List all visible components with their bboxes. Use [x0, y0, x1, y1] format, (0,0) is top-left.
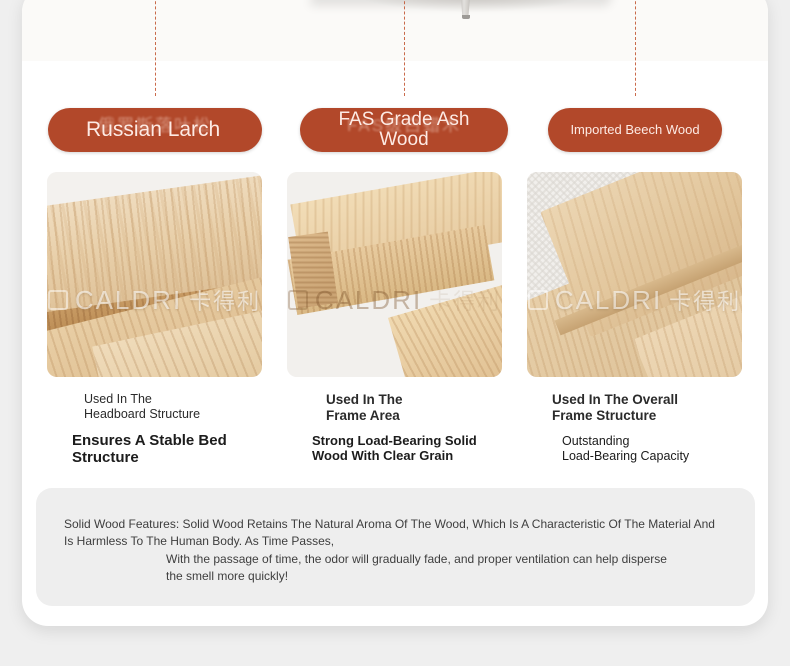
- badge-imported-beech-wood[interactable]: Imported Beech Wood: [548, 108, 722, 152]
- badge-fas-grade-ash-wood[interactable]: FAS级白蜡木 FAS Grade Ash Wood: [300, 108, 508, 152]
- wood-photo-2-art: [287, 172, 502, 377]
- connector-line-2: [404, 0, 405, 96]
- connector-line-3: [635, 0, 636, 96]
- badge-label-3: Imported Beech Wood: [570, 123, 699, 137]
- bed-furniture-photo: [22, 0, 768, 61]
- wood-photo-ash-wood[interactable]: CALDRI 卡得利: [287, 172, 502, 377]
- caption-column-3: Used In The Overall Frame Structure Outs…: [552, 392, 790, 463]
- badge-label-1: Russian Larch: [62, 119, 248, 141]
- caption-usage-3: Used In The Overall Frame Structure: [552, 392, 790, 425]
- caption-usage-2: Used In The Frame Area: [312, 392, 552, 425]
- bed-leg-tip: [462, 15, 470, 19]
- caption-column-2: Used In The Frame Area Strong Load-Beari…: [312, 392, 552, 464]
- caption-usage-1: Used In The Headboard Structure: [72, 392, 312, 423]
- wood-photo-russian-larch[interactable]: CALDRI 卡得利: [47, 172, 262, 377]
- caption-column-1: Used In The Headboard Structure Ensures …: [72, 392, 312, 467]
- badge-label-2: FAS Grade Ash Wood: [314, 110, 494, 150]
- connector-line-1: [155, 0, 156, 96]
- wood-photo-beech-wood[interactable]: CALDRI 卡得利: [527, 172, 742, 377]
- solid-wood-features-panel: Solid Wood Features: Solid Wood Retains …: [36, 488, 755, 606]
- caption-benefit-1: Ensures A Stable Bed Structure: [72, 432, 312, 467]
- caption-benefit-3: Outstanding Load-Bearing Capacity: [552, 434, 790, 464]
- page-root: 俄罗斯落叶松 Russian Larch FAS级白蜡木 FAS Grade A…: [0, 0, 790, 666]
- features-paragraph: Solid Wood Features: Solid Wood Retains …: [64, 516, 734, 550]
- features-note: With the passage of time, the odor will …: [166, 551, 746, 585]
- bed-shadow: [352, 0, 592, 12]
- badge-russian-larch[interactable]: 俄罗斯落叶松 Russian Larch: [48, 108, 262, 152]
- caption-benefit-2: Strong Load-Bearing Solid Wood With Clea…: [312, 433, 552, 464]
- wood-photo-3-art: [527, 172, 742, 377]
- wood-photo-1-art: [47, 172, 262, 377]
